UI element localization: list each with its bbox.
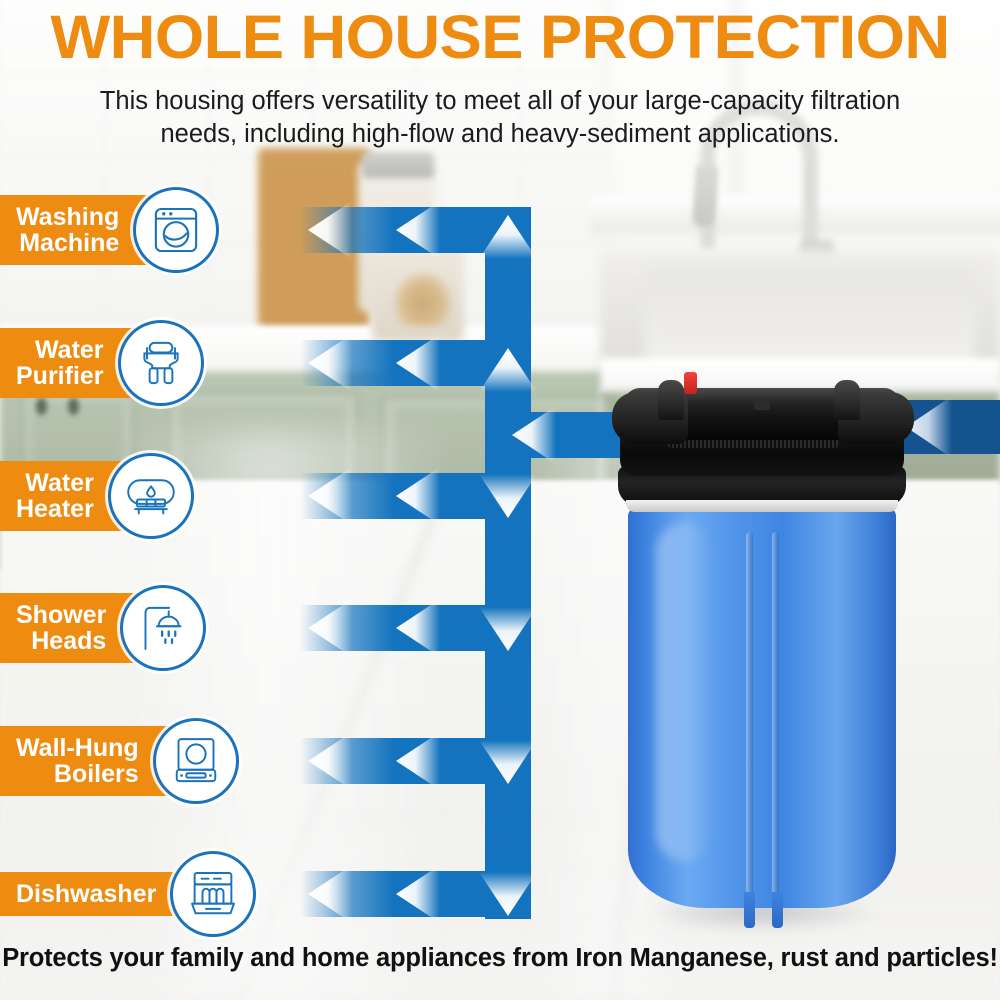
footer-tagline: Protects your family and home appliances… (0, 944, 1000, 973)
wall-hung-boiler-icon[interactable] (153, 718, 239, 804)
appliance-row[interactable]: Shower Heads (0, 585, 206, 671)
washing-machine-icon[interactable] (133, 187, 219, 273)
appliance-row[interactable]: Dishwasher (0, 851, 256, 937)
infographic-canvas: WHOLE HOUSE PROTECTION This housing offe… (0, 0, 1000, 1000)
appliance-row[interactable]: Water Heater (0, 453, 194, 539)
appliance-row[interactable]: Water Purifier (0, 320, 204, 406)
main-vertical-pipe (485, 207, 531, 919)
appliance-row[interactable]: Washing Machine (0, 187, 219, 273)
filter-housing-product (612, 372, 912, 947)
dishwasher-icon[interactable] (170, 851, 256, 937)
water-purifier-icon[interactable] (118, 320, 204, 406)
appliance-label: Dishwasher (0, 872, 196, 916)
shower-head-icon[interactable] (120, 585, 206, 671)
pressure-relief-button[interactable] (684, 372, 697, 394)
appliance-row[interactable]: Wall-Hung Boilers (0, 718, 239, 804)
flow-arrowheads-left (308, 201, 440, 923)
appliance-label: Wall-Hung Boilers (0, 726, 179, 796)
water-heater-icon[interactable] (108, 453, 194, 539)
